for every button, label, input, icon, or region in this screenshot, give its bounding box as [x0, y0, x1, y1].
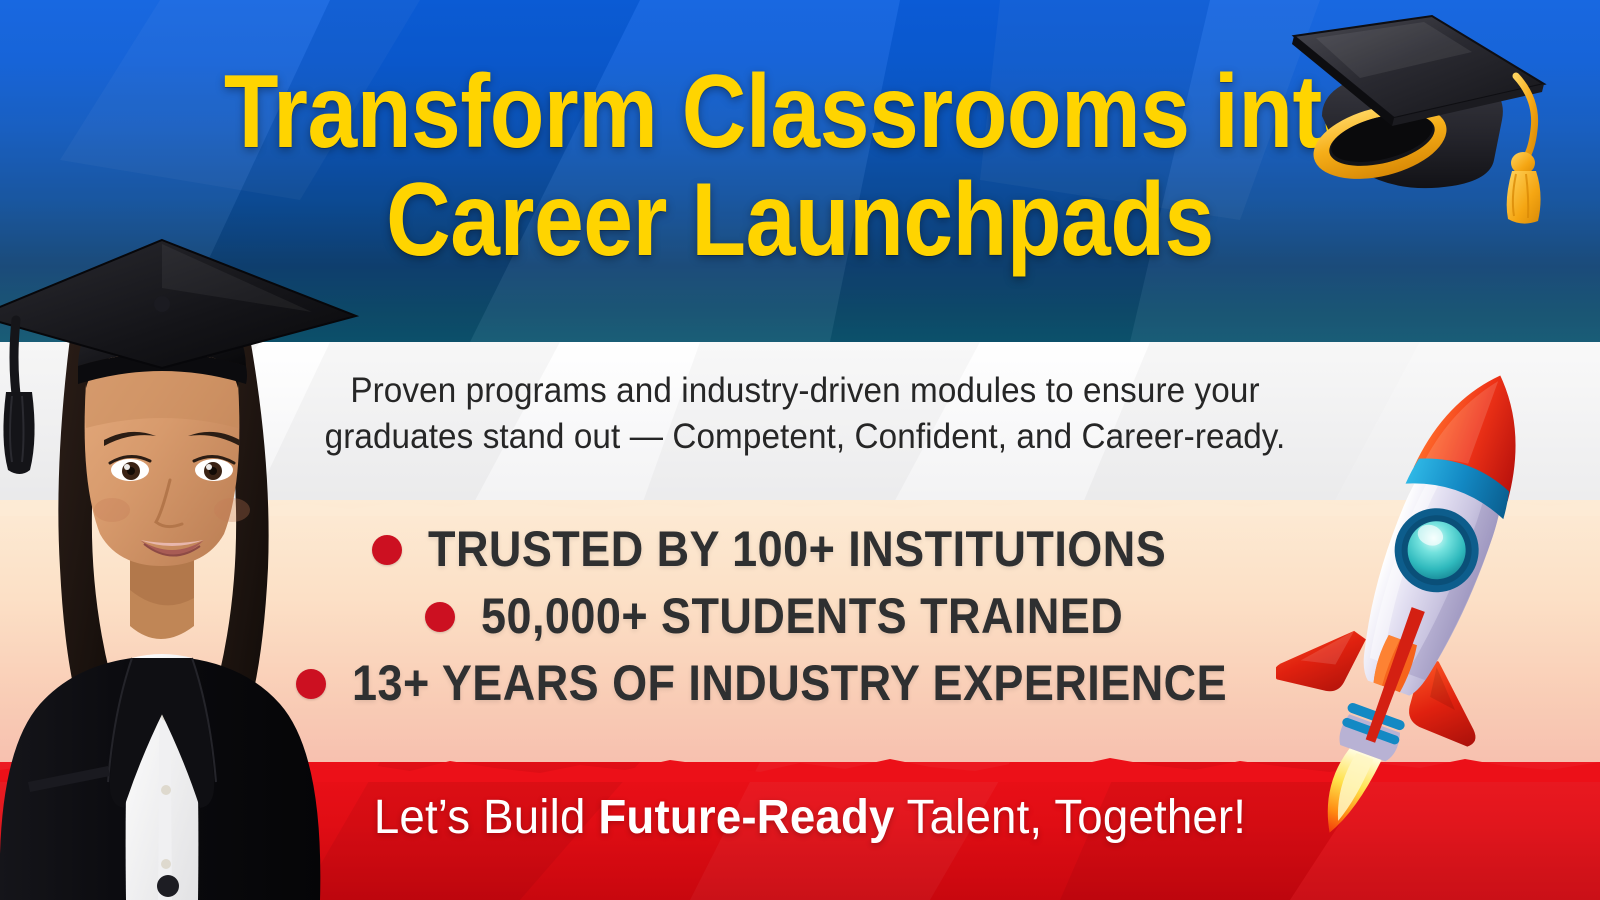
promotional-banner: Transform Classrooms into Career Launchp…: [0, 0, 1600, 900]
cta-emphasis: Future-Ready: [598, 791, 894, 844]
bullet-dot-icon: [425, 602, 455, 632]
subtitle: Proven programs and industry-driven modu…: [278, 368, 1333, 460]
cta-suffix: Talent, Together!: [895, 791, 1247, 844]
list-item: 50,000+ Students Trained: [330, 591, 1290, 642]
highlights-list: Trusted by 100+ Institutions 50,000+ Stu…: [330, 524, 1290, 725]
list-item-label: Trusted by 100+ Institutions: [428, 524, 1166, 575]
rocket-icon: [1276, 352, 1566, 852]
list-item: Trusted by 100+ Institutions: [330, 524, 1290, 575]
call-to-action-text: Let’s Build Future-Ready Talent, Togethe…: [326, 792, 1295, 845]
graduate-student-photo: [0, 188, 382, 900]
cta-prefix: Let’s Build: [374, 791, 599, 844]
list-item-label: 13+ Years of Industry Experience: [352, 658, 1227, 709]
list-item-label: 50,000+ Students Trained: [481, 591, 1123, 642]
graduation-cap-icon: [1264, 6, 1564, 226]
list-item: 13+ Years of Industry Experience: [330, 658, 1290, 709]
